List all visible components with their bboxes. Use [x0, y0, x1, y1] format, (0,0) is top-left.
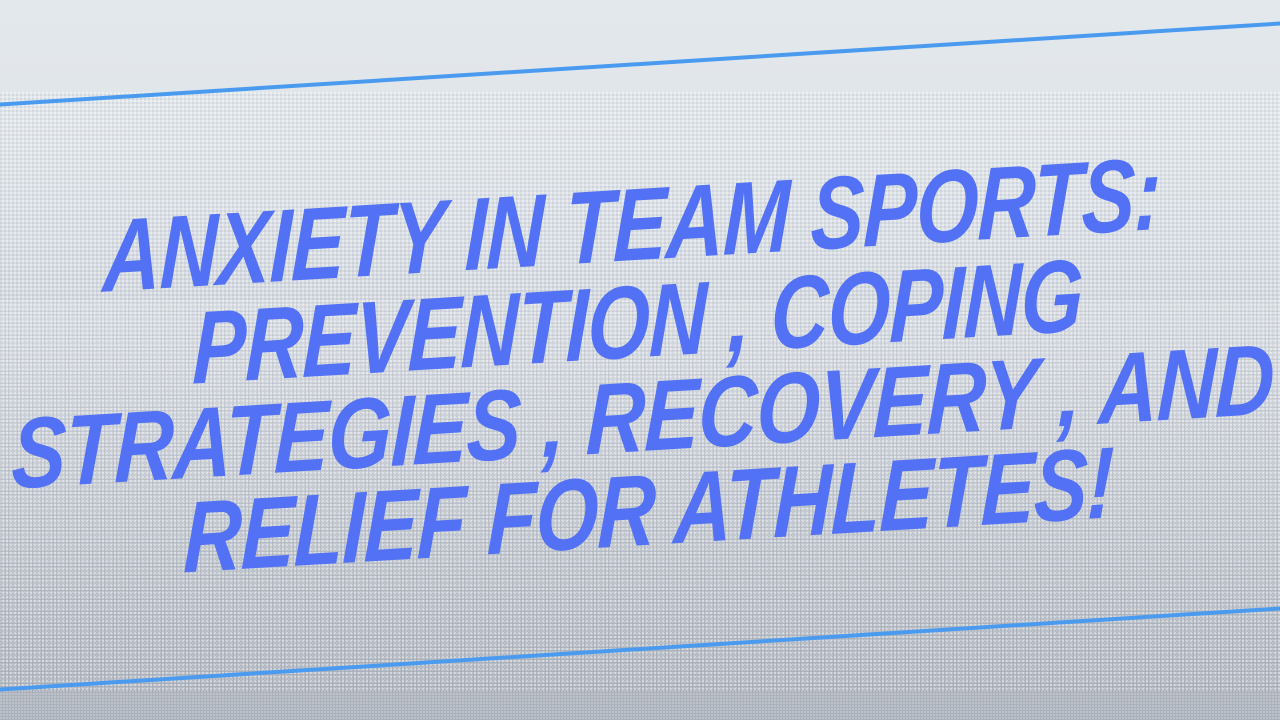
diagonal-rule-top	[0, 21, 1280, 107]
halftone-texture-overlay-secondary	[0, 300, 1280, 720]
page-title-line-2: PREVENTION , COPING	[191, 247, 1083, 397]
page-title: ANXIETY IN TEAM SPORTS: PREVENTION , COP…	[0, 80, 1280, 655]
page-title-line-4: RELIEF FOR ATHLETES!	[183, 436, 1115, 586]
title-card-canvas: ANXIETY IN TEAM SPORTS: PREVENTION , COP…	[0, 0, 1280, 720]
halftone-texture-overlay	[0, 92, 1280, 692]
page-title-line-1: ANXIETY IN TEAM SPORTS:	[102, 145, 1162, 305]
page-title-line-3: STRATEGIES , RECOVERY , AND	[11, 333, 1276, 502]
diagonal-rule-bottom	[0, 606, 1280, 692]
